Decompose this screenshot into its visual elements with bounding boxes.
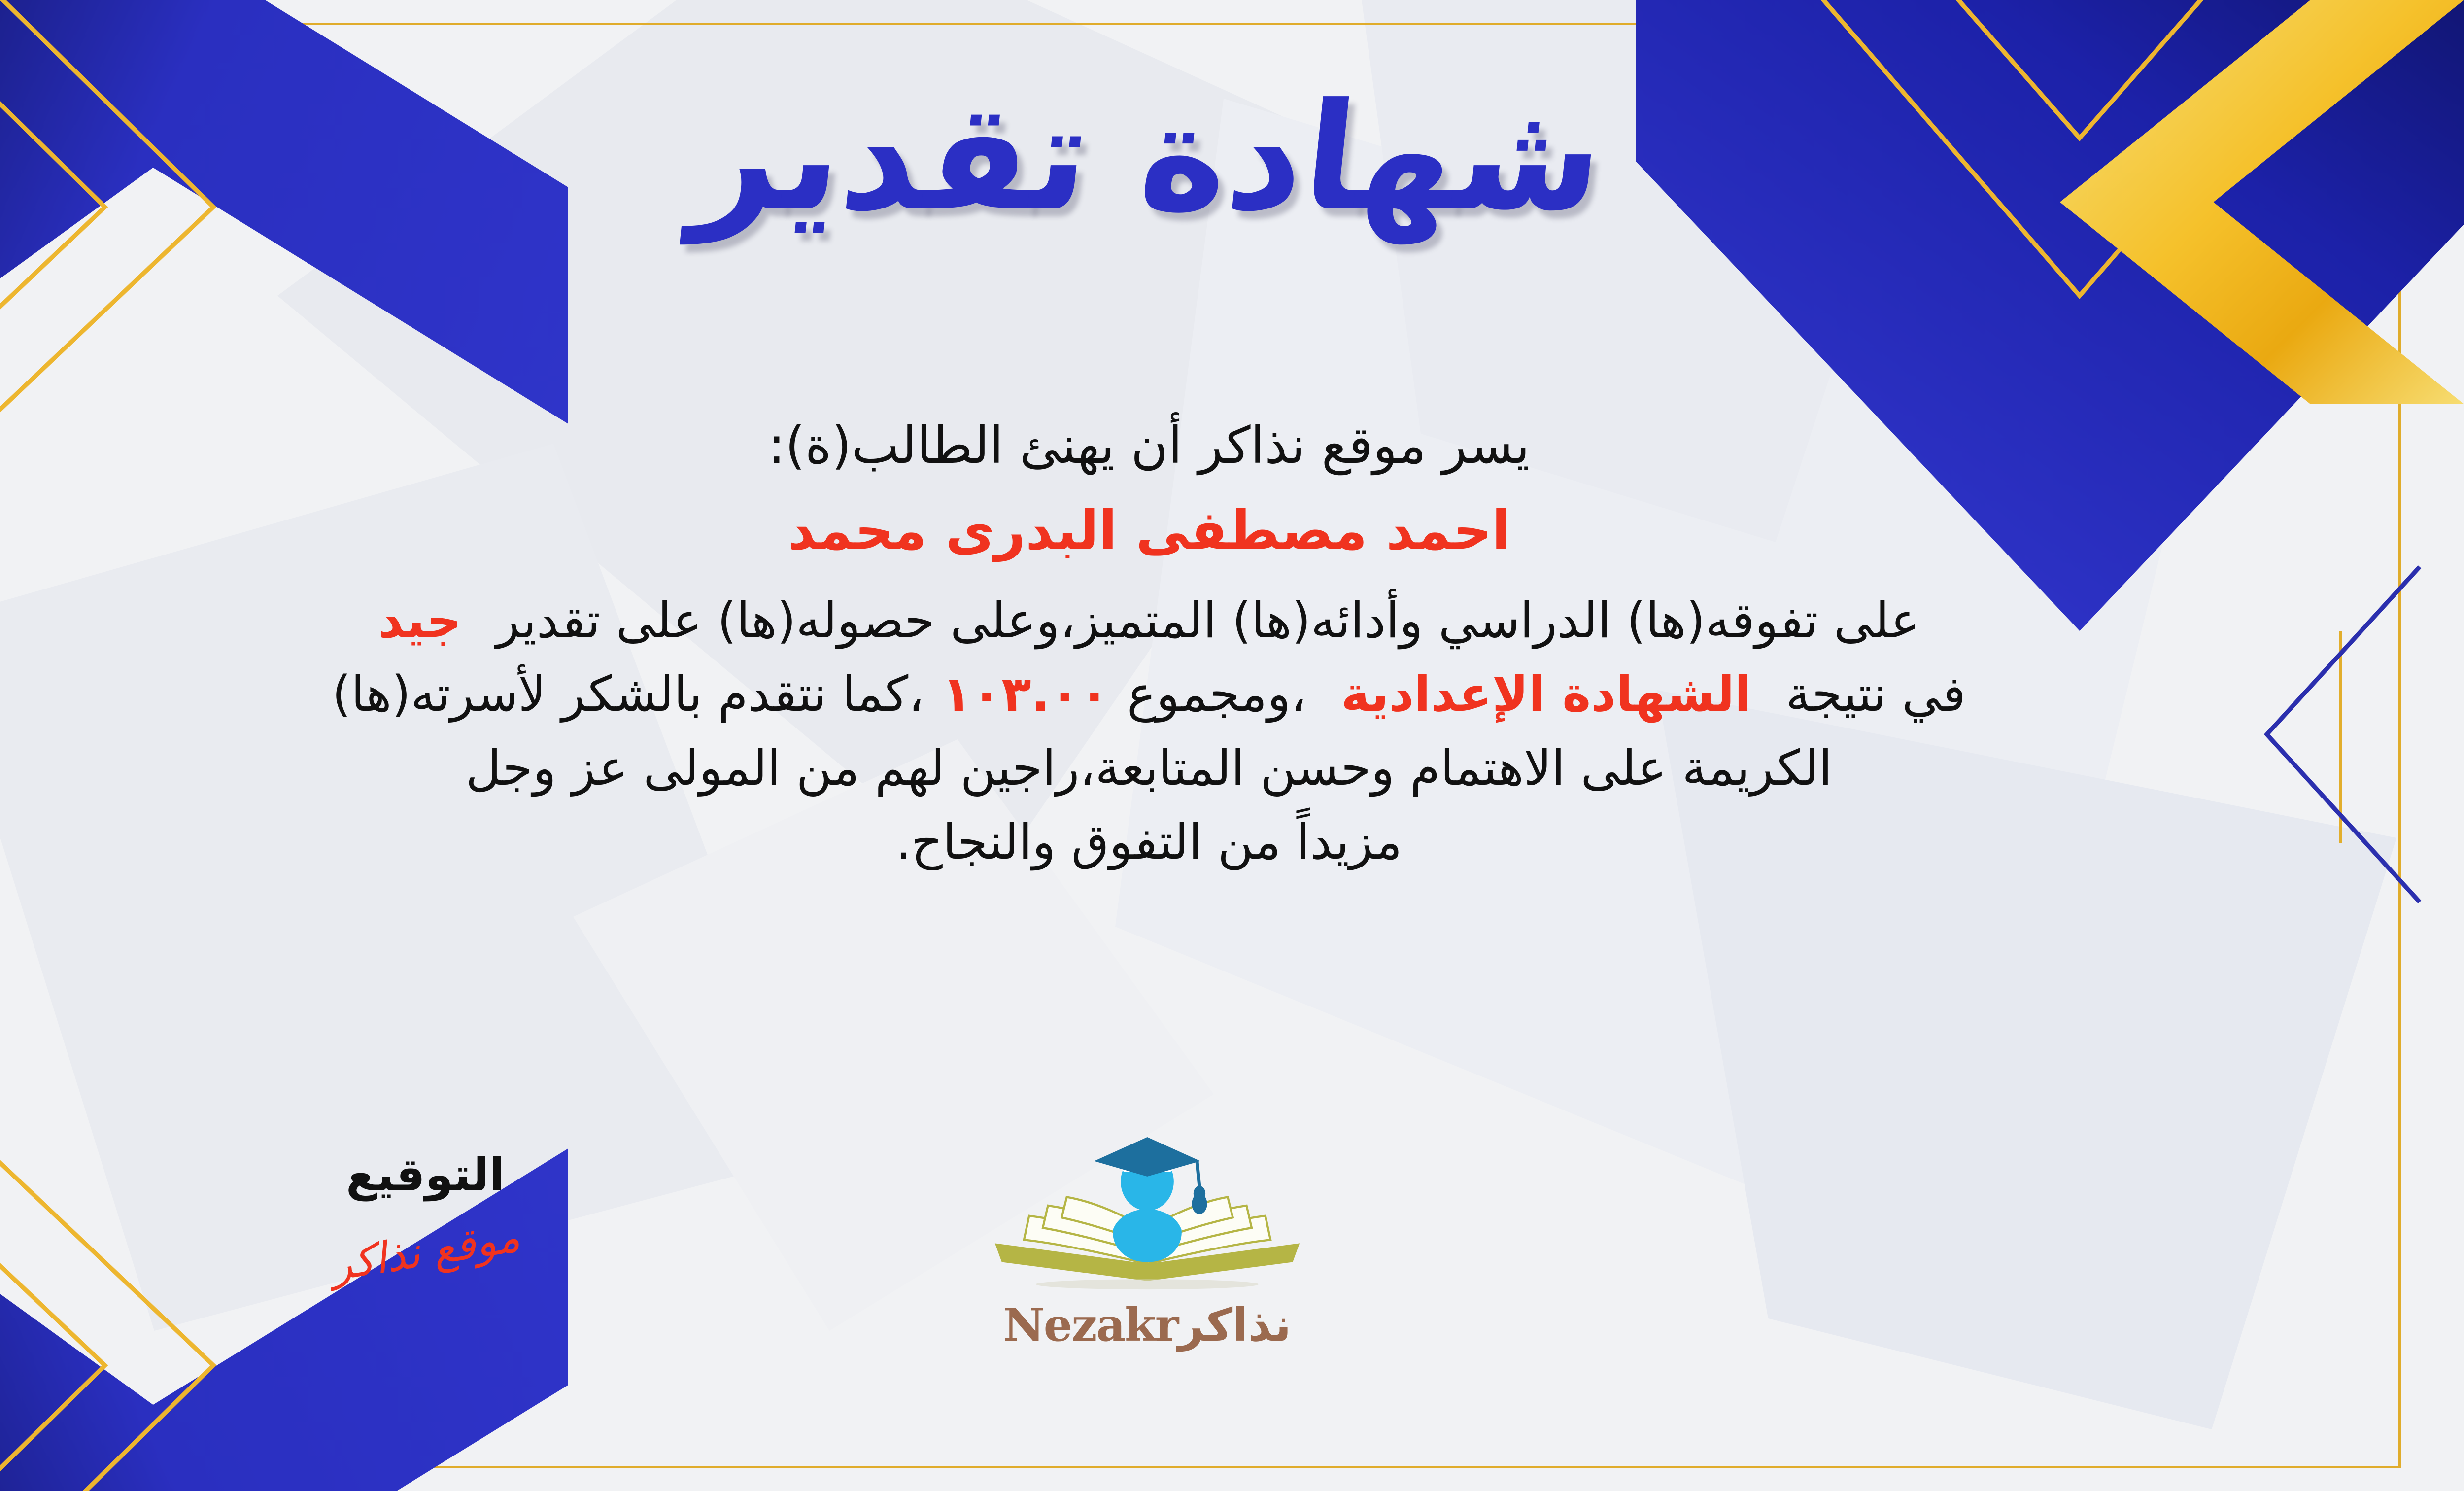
achievement-line-4: مزيداً من التفوق والنجاح.: [0, 807, 2316, 878]
exam-name: الشهادة الإعدادية: [1341, 666, 1751, 723]
achievement-text: على تفوقه(ها) الدراسي وأدائه(ها) المتميز…: [496, 592, 1920, 649]
page-title: شهادة تقدير: [687, 84, 1611, 232]
signature-label: التوقيع: [238, 1148, 613, 1201]
intro-line: يسر موقع نذاكر أن يهنئ الطالب(ة):: [0, 409, 2316, 483]
logo-name-ar: نذاكر: [1178, 1299, 1291, 1352]
achievement-paragraph: على تفوقه(ها) الدراسي وأدائه(ها) المتميز…: [0, 586, 2316, 877]
logo-wordmark: نذاكرNezakr: [953, 1298, 1342, 1352]
site-logo: نذاكرNezakr: [953, 1134, 1342, 1352]
graduate-cap-book-icon: [953, 1134, 1342, 1296]
student-name: احمد مصطفى البدرى محمد: [0, 493, 2316, 569]
total-label: ،ومجموع: [1127, 666, 1306, 723]
logo-name-en: Nezakr: [1003, 1298, 1178, 1352]
result-prefix: في نتيجة: [1786, 666, 1966, 723]
achievement-line-2: في نتيجةالشهادة الإعدادية،ومجموع١٠٣.٠٠،ك…: [0, 659, 2316, 730]
signature-block: التوقيع موقع نذاكر: [238, 1148, 613, 1276]
logo-illustration: [953, 1134, 1342, 1296]
certificate-title-area: شهادة تقدير: [0, 84, 2464, 232]
grade-value: جيد: [378, 592, 462, 649]
certificate-body: يسر موقع نذاكر أن يهنئ الطالب(ة): احمد م…: [0, 409, 2316, 880]
achievement-line-3: الكريمة على الاهتمام وحسن المتابعة،راجين…: [0, 733, 2316, 804]
certificate-page: شهادة تقدير يسر موقع نذاكر أن يهنئ الطال…: [0, 0, 2464, 1491]
total-score: ١٠٣.٠٠: [942, 666, 1109, 723]
thanks-text: ،كما نتقدم بالشكر لأسرته(ها): [332, 666, 924, 723]
achievement-line-1: على تفوقه(ها) الدراسي وأدائه(ها) المتميز…: [0, 586, 2316, 657]
